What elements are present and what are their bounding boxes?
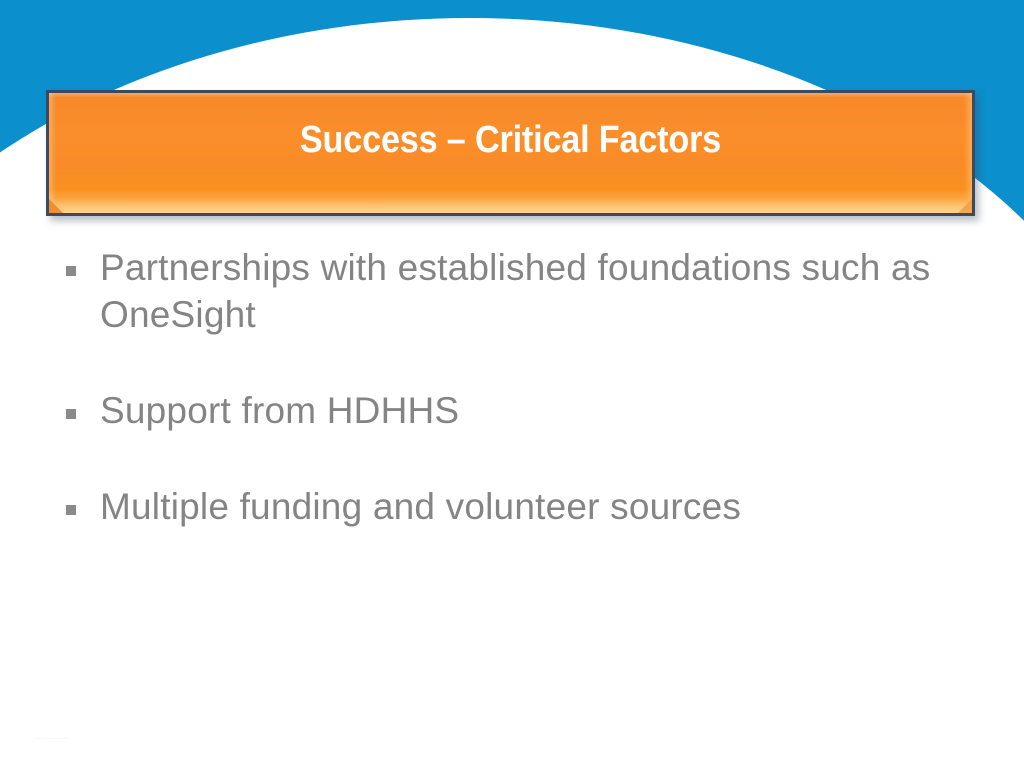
slide-title: Success – Critical Factors bbox=[95, 121, 926, 159]
plaque-facet-bottom-left bbox=[49, 199, 63, 213]
square-bullet-icon bbox=[66, 266, 76, 276]
square-bullet-icon bbox=[66, 505, 76, 515]
plaque-bevel-bottom bbox=[49, 199, 972, 213]
square-bullet-icon bbox=[66, 409, 76, 419]
slide-title-plaque: Success – Critical Factors bbox=[46, 90, 975, 216]
bullet-item-2: Support from HDHHS bbox=[60, 387, 965, 434]
footer-watermark: ................... bbox=[35, 734, 69, 742]
plaque-bevel-top bbox=[49, 93, 972, 98]
plaque-bevel-right bbox=[964, 93, 972, 213]
bullet-item-label: Partnerships with established foundation… bbox=[100, 244, 965, 338]
bullet-item-1: Partnerships with established foundation… bbox=[60, 244, 965, 338]
slide-body-bullet-list: Partnerships with established foundation… bbox=[60, 244, 965, 530]
plaque-bevel-left bbox=[49, 93, 56, 213]
bullet-item-3: Multiple funding and volunteer sources bbox=[60, 483, 965, 530]
plaque-facet-bottom-right bbox=[958, 199, 972, 213]
bullet-item-label: Support from HDHHS bbox=[100, 387, 965, 434]
bullet-item-label: Multiple funding and volunteer sources bbox=[100, 483, 965, 530]
presentation-slide: Success – Critical Factors Partnerships … bbox=[0, 0, 1024, 768]
